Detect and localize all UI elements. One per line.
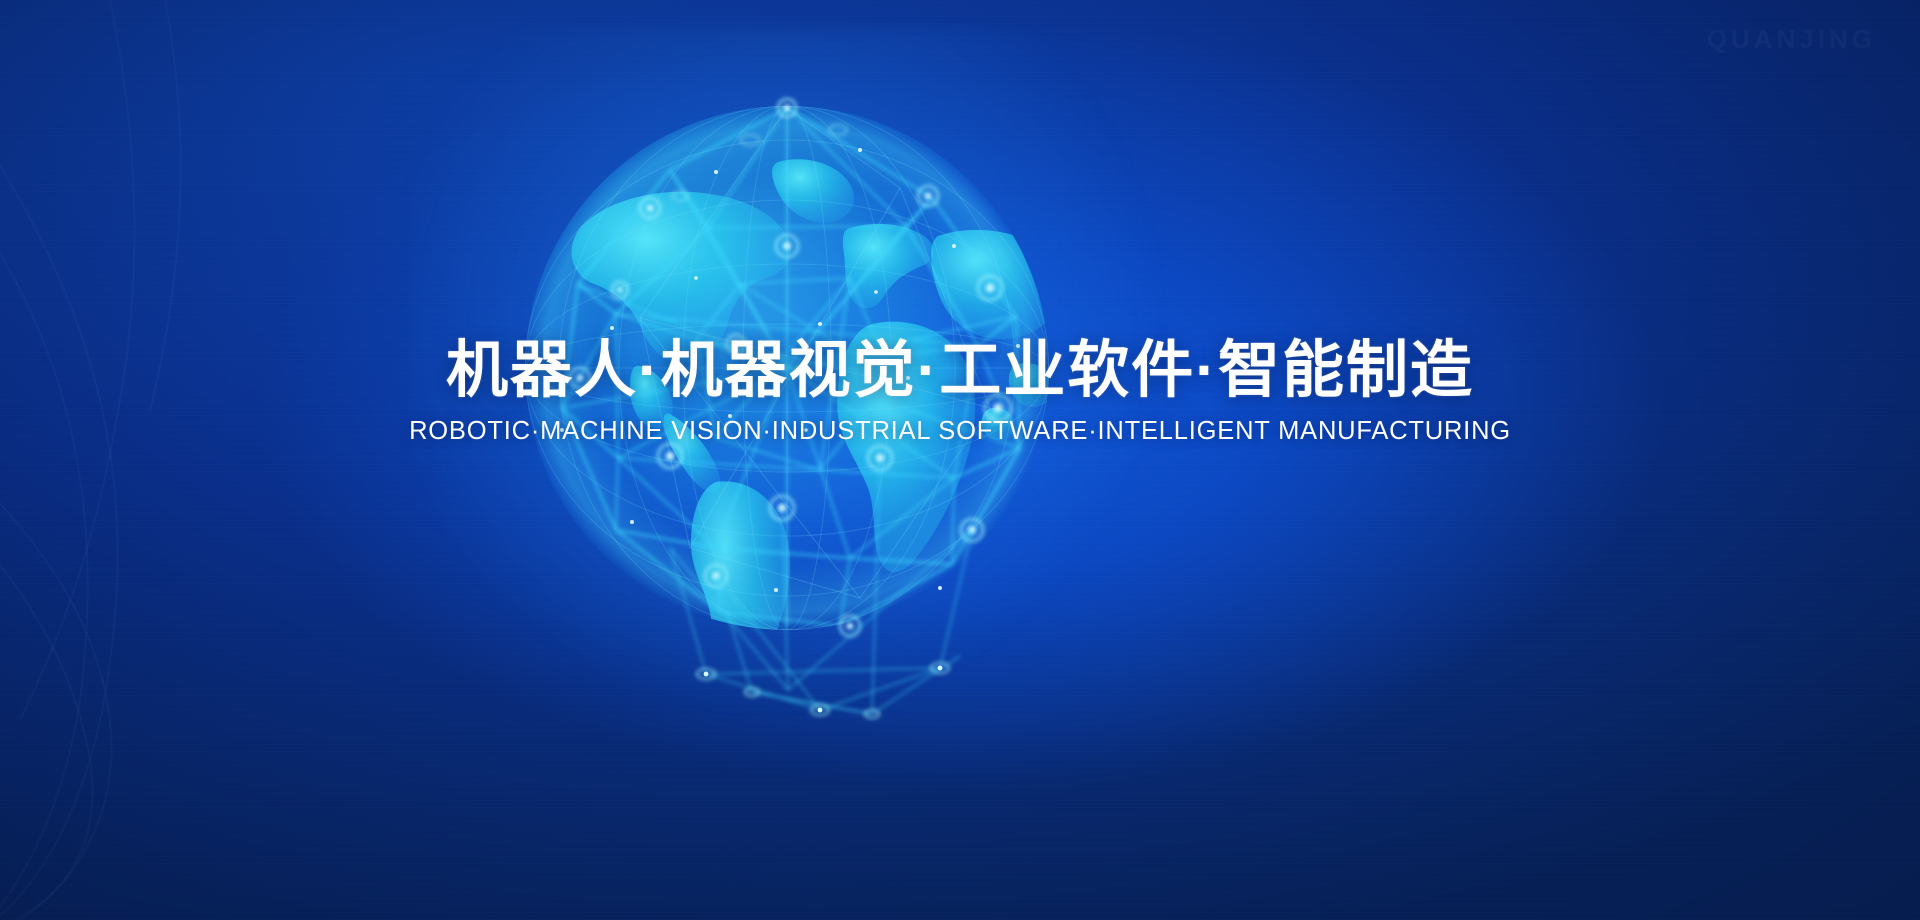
page-subtitle: ROBOTIC·MACHINE VISION·INDUSTRIAL SOFTWA… — [0, 417, 1920, 445]
stock-watermark: QUANJING — [1707, 24, 1876, 55]
decorative-ribbon-lines — [0, 0, 420, 920]
page-title: 机器人·机器视觉·工业软件·智能制造 — [0, 338, 1920, 405]
hero-copy: 机器人·机器视觉·工业软件·智能制造 ROBOTIC·MACHINE VISIO… — [0, 338, 1920, 445]
hero-banner: 机器人·机器视觉·工业软件·智能制造 ROBOTIC·MACHINE VISIO… — [0, 0, 1920, 920]
